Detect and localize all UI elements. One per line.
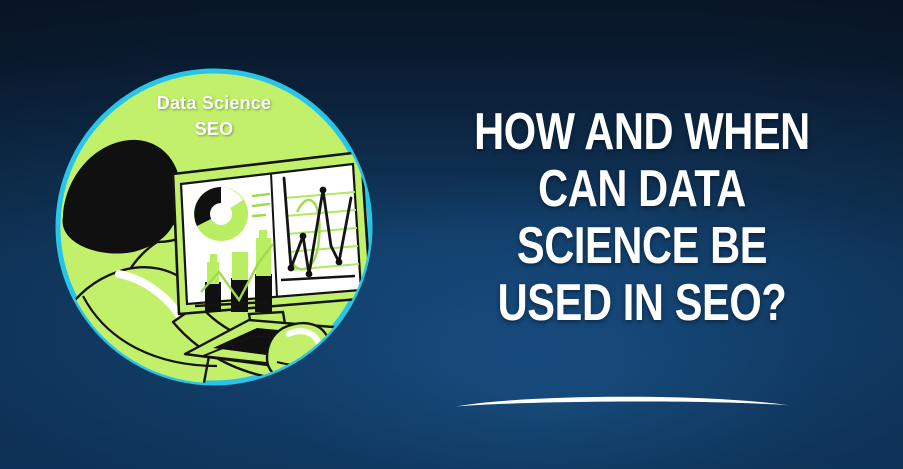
swoosh-underline <box>452 386 792 416</box>
finger-crease-2 <box>289 366 321 371</box>
bar-3-cap <box>259 230 267 239</box>
promo-banner: Data Science SEO HOW AND WHEN CAN DATA S… <box>0 0 903 469</box>
swoosh-icon <box>452 386 792 416</box>
bar-1-cap <box>210 254 217 263</box>
bar-3-dark <box>255 274 272 312</box>
bar-2-light <box>232 252 248 280</box>
swoosh-stroke <box>456 397 788 407</box>
donut-chart <box>194 187 248 241</box>
headline-line-2: CAN DATA <box>474 161 810 218</box>
headline: HOW AND WHEN CAN DATA SCIENCE BE USED IN… <box>432 104 852 332</box>
headline-line-3: SCIENCE BE <box>474 218 810 275</box>
illustration-graphic <box>53 66 375 388</box>
bar-2-dark <box>231 278 248 312</box>
headline-line-1: HOW AND WHEN <box>474 104 810 161</box>
headline-line-4: USED IN SEO? <box>474 275 810 332</box>
donut-hole <box>210 203 232 225</box>
illustration-circle: Data Science SEO <box>53 66 375 388</box>
